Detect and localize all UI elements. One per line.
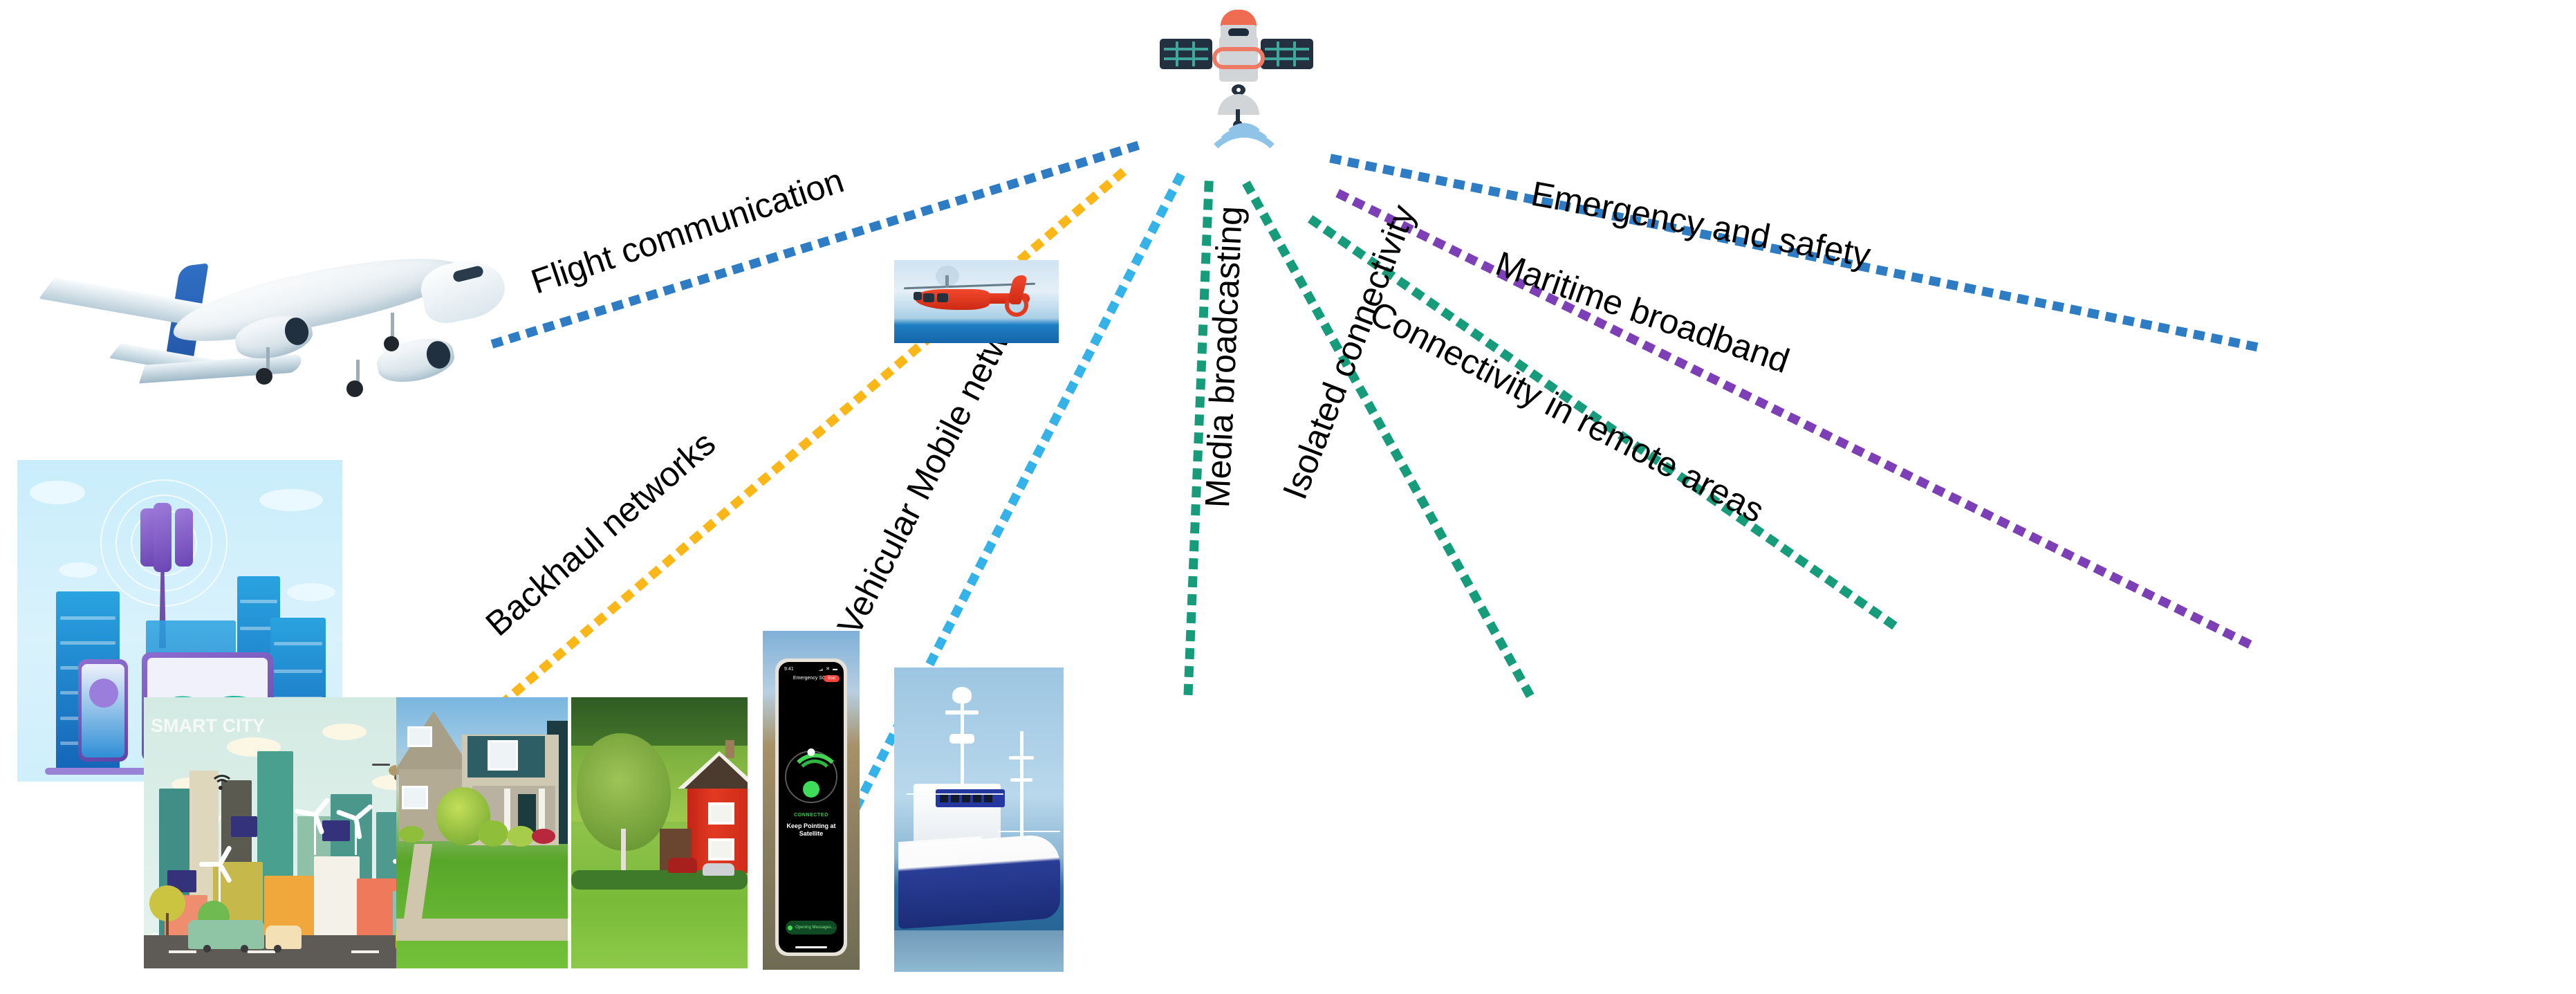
- link-line-maritime: [1342, 195, 2248, 643]
- cloud-icon: [322, 724, 367, 740]
- airplane-wheel-main-right: [346, 380, 363, 397]
- rotor-mast-icon: [945, 275, 949, 288]
- wind-turbine-icon: [355, 816, 357, 855]
- pointing-instruction-label: Keep Pointing at Satellite: [783, 822, 840, 838]
- sea-wake: [894, 930, 1064, 972]
- diagram-canvas: Flight communication Backhaul networks V…: [0, 0, 2576, 994]
- end-call-button[interactable]: End: [824, 675, 840, 682]
- rural-house-photo: [571, 697, 748, 968]
- satellite-position-dot: [808, 748, 815, 756]
- satellite-phone-photo: 9:41 ▦ ✕ ▬ Emergency SOS End CONNECTED K…: [763, 631, 860, 970]
- helicopter-window: [923, 293, 934, 302]
- wheel-icon: [203, 945, 211, 952]
- smart-city-overlay-title: SMART CITY: [151, 717, 265, 735]
- solar-panel-icon: [322, 820, 350, 841]
- airplane-wheel-main-left: [256, 368, 272, 385]
- message-bubble-icon: [788, 926, 793, 930]
- walkway-path: [403, 844, 432, 924]
- satellite-hub: [1127, 6, 1335, 172]
- cloud-icon: [287, 583, 335, 601]
- airplane-wheel-nose: [384, 336, 399, 351]
- suburban-house-photo: [396, 697, 568, 968]
- house-window: [402, 786, 428, 809]
- road-marking: [351, 950, 379, 953]
- phone-screen: 9:41 ▦ ✕ ▬ Emergency SOS End CONNECTED K…: [779, 662, 844, 952]
- home-indicator: [795, 946, 827, 948]
- road-marking: [248, 950, 275, 953]
- chimney-icon: [725, 740, 734, 758]
- wifi-icon: [89, 679, 118, 708]
- building-icon: [357, 878, 397, 938]
- cloud-icon: [259, 489, 323, 511]
- cell-tower-panel-right-icon: [175, 508, 193, 567]
- ship-aftmast: [1020, 731, 1023, 842]
- smartphone-device: 9:41 ▦ ✕ ▬ Emergency SOS End CONNECTED K…: [775, 659, 847, 956]
- house-window: [708, 802, 734, 825]
- deck-railing: [998, 831, 1060, 832]
- shrub-icon: [478, 820, 508, 847]
- signal-wave-outer-icon: [1201, 131, 1287, 217]
- airplane-photo: [31, 228, 501, 401]
- car-icon: [703, 863, 734, 876]
- solar-panel-icon: [231, 816, 257, 837]
- instruction-line-2: Satellite: [783, 830, 840, 838]
- car-icon: [668, 858, 697, 873]
- deck-railing: [907, 793, 1003, 795]
- mast-crosstree: [1009, 756, 1034, 760]
- flower-bed-icon: [532, 829, 555, 844]
- wheel-icon: [241, 945, 248, 952]
- radar-platform: [945, 710, 979, 715]
- cloud-icon: [30, 481, 85, 504]
- house-window: [488, 740, 518, 771]
- satellite-radome-icon: [952, 687, 972, 703]
- truck-icon: [188, 920, 264, 949]
- opening-messages-label: Opening Messages...: [795, 926, 835, 930]
- ship-bridge: [936, 789, 1005, 807]
- van-icon: [266, 926, 302, 949]
- solar-panel-left-icon: [1160, 39, 1212, 69]
- wind-turbine-icon: [219, 862, 221, 905]
- satellite-ring-icon: [1212, 47, 1265, 69]
- house-window: [407, 726, 432, 747]
- phone-notch: [799, 664, 824, 670]
- instruction-line-1: Keep Pointing at: [783, 822, 840, 830]
- walkway: [396, 919, 568, 941]
- solar-panel-right-icon: [1261, 39, 1313, 69]
- research-vessel-photo: [894, 668, 1064, 972]
- house-window: [708, 838, 734, 860]
- device-position-dot: [803, 781, 819, 798]
- wheel-icon: [274, 945, 281, 952]
- shrub-icon: [399, 826, 424, 843]
- status-bar-time: 9:41: [784, 667, 794, 672]
- helicopter-cockpit-window: [914, 292, 922, 300]
- smartphone-device-icon: [78, 659, 128, 762]
- opening-messages-pill[interactable]: Opening Messages...: [786, 921, 837, 935]
- satellite-pointing-radar: [785, 751, 837, 803]
- cell-tower-panel-mid-icon: [154, 503, 172, 572]
- connection-status-label: CONNECTED: [779, 813, 844, 818]
- radar-platform: [949, 734, 974, 744]
- helicopter-window: [937, 293, 948, 302]
- shrub-icon: [507, 826, 535, 847]
- mast-crosstree: [1010, 778, 1032, 782]
- wind-turbine-icon: [314, 812, 316, 855]
- building-icon: [314, 856, 360, 938]
- ship-hull: [898, 834, 1060, 929]
- satellite-feed-horn-icon: [1236, 109, 1240, 125]
- road-marking: [169, 950, 196, 953]
- cloud-icon: [59, 562, 98, 578]
- wifi-icon: [210, 775, 234, 790]
- helicopter-photo: [894, 260, 1059, 343]
